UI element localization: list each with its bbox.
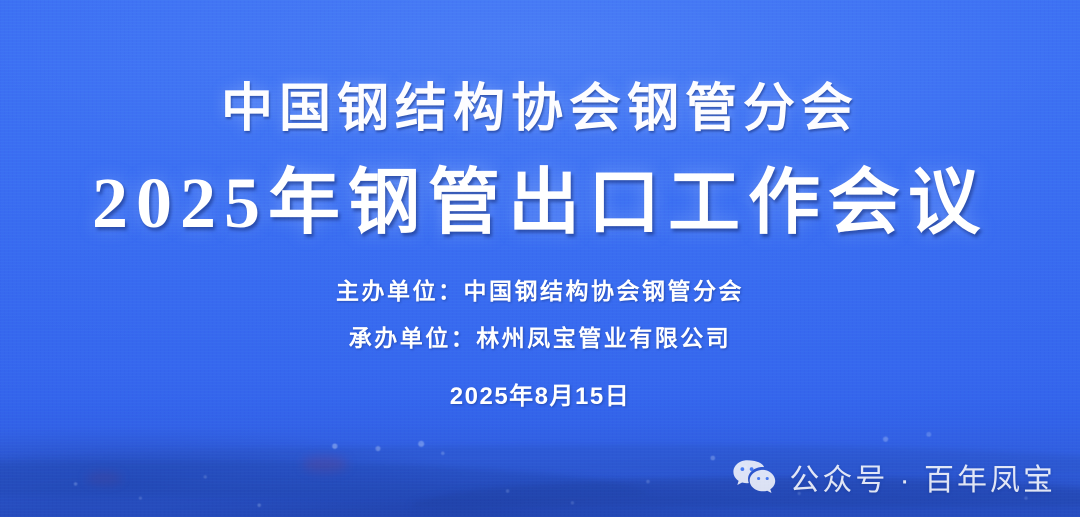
- conference-date: 2025年8月15日: [0, 376, 1080, 411]
- conference-title-line1: 中国钢结构协会钢管分会: [0, 66, 1080, 141]
- backdrop-content: 中国钢结构协会钢管分会 2025年钢管出口工作会议 主办单位：中国钢结构协会钢管…: [0, 0, 1080, 517]
- watermark-label: 公众号 · 百年凤宝: [789, 455, 1056, 499]
- conference-backdrop: 中国钢结构协会钢管分会 2025年钢管出口工作会议 主办单位：中国钢结构协会钢管…: [0, 0, 1080, 517]
- co-organizer-line: 承办单位：林州凤宝管业有限公司: [0, 319, 1080, 353]
- conference-title-line2: 2025年钢管出口工作会议: [0, 143, 1080, 248]
- wechat-icon: [731, 458, 777, 496]
- watermark: 公众号 · 百年凤宝: [731, 455, 1056, 499]
- host-organization-line: 主办单位：中国钢结构协会钢管分会: [0, 272, 1080, 306]
